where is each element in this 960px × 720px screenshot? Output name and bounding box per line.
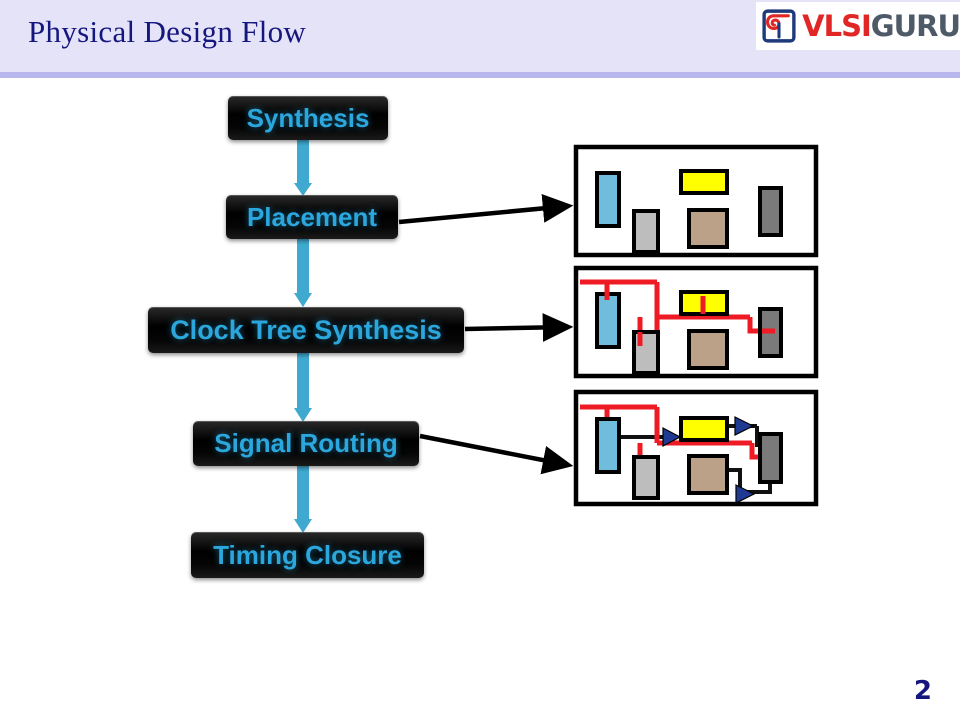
slide-canvas: Physical Design Flow VLSIGURU [0, 0, 960, 720]
vlsiguru-spiral-icon [762, 9, 796, 43]
flow-step-signal-routing-label: Signal Routing [214, 428, 397, 459]
vlsiguru-logo: VLSIGURU [756, 2, 960, 50]
signal-direction-arrow [663, 417, 754, 503]
flow-step-signal-routing[interactable]: Signal Routing [193, 421, 419, 466]
logo-word-vlsi: VLSI [802, 9, 871, 43]
physical-design-flow-chart: Synthesis Placement Clock Tree Synthesis… [0, 0, 560, 720]
flow-step-clock-tree-synthesis[interactable]: Clock Tree Synthesis [148, 307, 464, 353]
flow-step-synthesis-label: Synthesis [247, 103, 370, 134]
logo-wordmark: VLSIGURU [802, 12, 960, 41]
flow-step-synthesis[interactable]: Synthesis [228, 96, 388, 140]
flow-step-placement[interactable]: Placement [226, 195, 398, 239]
logo-word-guru: GURU [871, 9, 960, 43]
panel-signal-routing [576, 392, 816, 504]
flow-step-cts-label: Clock Tree Synthesis [170, 315, 442, 346]
panel-placement [576, 147, 816, 255]
page-number: 2 [914, 676, 932, 706]
panel-clock-tree-synthesis [576, 268, 816, 376]
flow-step-timing-closure-label: Timing Closure [213, 540, 402, 571]
flow-step-placement-label: Placement [247, 202, 377, 233]
flow-step-timing-closure[interactable]: Timing Closure [191, 532, 424, 578]
